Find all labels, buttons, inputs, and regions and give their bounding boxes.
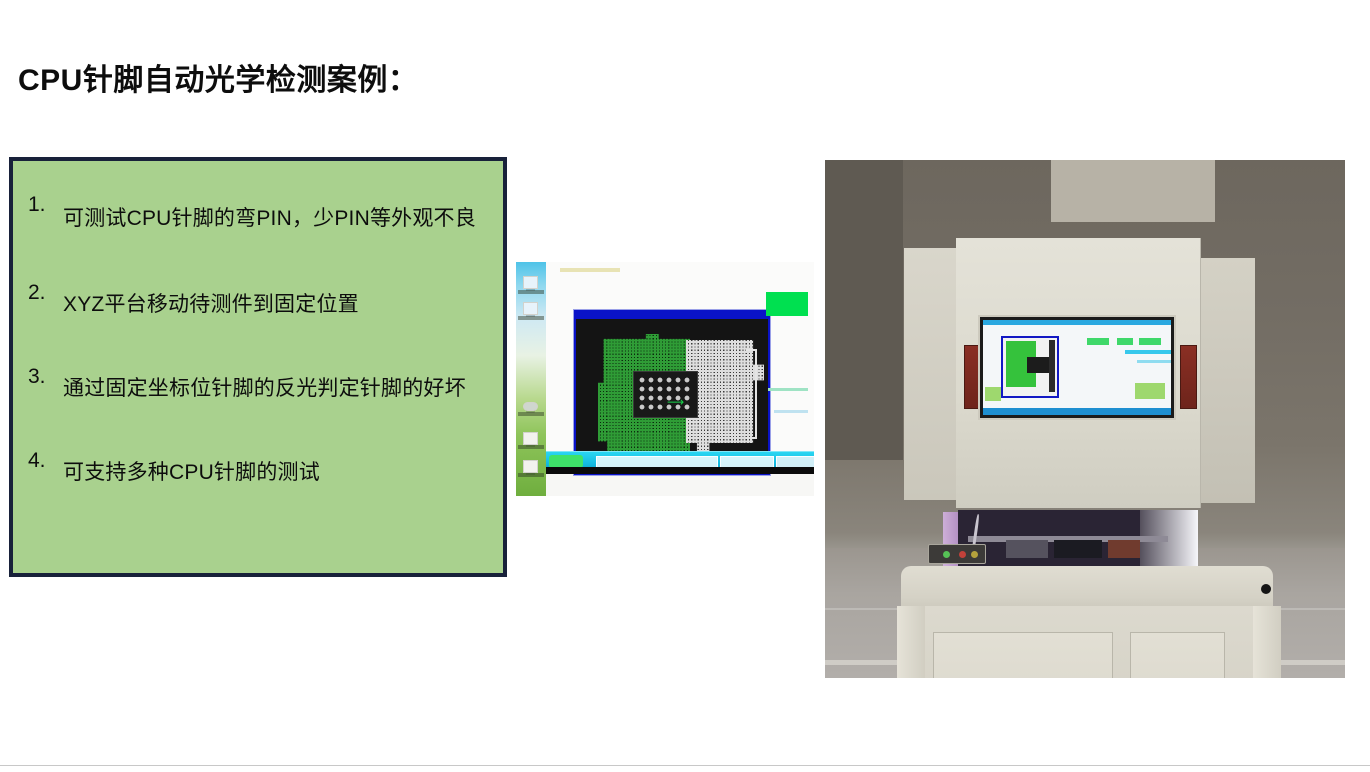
windows-desktop-wallpaper [516, 262, 546, 496]
desktop-icon [523, 302, 538, 315]
status-bar-segment [1117, 338, 1133, 345]
room-wall-panel [1051, 160, 1215, 222]
status-bar-segment [1139, 338, 1161, 345]
room-wall-left-section [825, 160, 903, 460]
list-item-number: 3. [21, 359, 63, 395]
list-item: 3. 通过固定坐标位针脚的反光判定针脚的好坏 [13, 359, 503, 419]
machine-upper-left-panel [904, 248, 958, 500]
monitor-pin-viewer [1001, 336, 1059, 398]
desktop-icon-label [518, 316, 544, 320]
list-item-label: XYZ平台移动待测件到固定位置 [63, 275, 495, 335]
stage-fixture [1006, 540, 1048, 558]
start-button-green[interactable] [943, 551, 950, 558]
machine-monitor-screen [983, 320, 1171, 415]
status-readout-line [768, 388, 808, 391]
socket-center-chip: ⟶ [633, 371, 698, 418]
monitor-result-block [985, 387, 1001, 401]
stage-fixture [1108, 540, 1140, 558]
machine-upper-right-panel [1197, 258, 1255, 503]
machine-control-panel[interactable] [928, 544, 986, 564]
desktop-icon-label [518, 412, 544, 416]
cabinet-door[interactable] [933, 632, 1113, 678]
alignment-arrow-icon: ⟶ [667, 396, 683, 408]
app-status-panel [752, 292, 810, 444]
app-titlebar [983, 320, 1171, 325]
pin-image: ⟶ [576, 319, 768, 466]
stop-button-red[interactable] [959, 551, 966, 558]
list-item-label: 通过固定坐标位针脚的反光判定针脚的好坏 [63, 359, 495, 419]
list-item: 1. 可测试CPU针脚的弯PIN，少PIN等外观不良 [13, 187, 503, 251]
monitor-result-block [1135, 383, 1165, 399]
page-title: CPU针脚自动光学检测案例： [18, 55, 418, 99]
list-item: 4. 可支持多种CPU针脚的测试 [13, 443, 503, 503]
monitor-statusbar [983, 408, 1171, 415]
monitor-info-line [1125, 350, 1171, 354]
app-toolbar [560, 268, 620, 272]
list-item-label: 可测试CPU针脚的弯PIN，少PIN等外观不良 [63, 187, 495, 251]
aoi-machine-photo [825, 160, 1345, 678]
cabinet-door[interactable] [1130, 632, 1225, 678]
inspection-app-window: ⟶ [546, 262, 814, 474]
status-readout-line [774, 410, 808, 413]
feature-list: 1. 可测试CPU针脚的弯PIN，少PIN等外观不良 2. XYZ平台移动待测件… [13, 187, 503, 527]
desktop-icon [523, 460, 538, 473]
list-item-label: 可支持多种CPU针脚的测试 [63, 443, 495, 503]
cabinet-leg [1253, 606, 1281, 678]
list-item-number: 2. [21, 275, 63, 311]
machine-monitor [978, 315, 1176, 420]
photo-edge-shadow [546, 467, 814, 474]
list-item: 2. XYZ平台移动待测件到固定位置 [13, 275, 503, 335]
list-item-number: 4. [21, 443, 63, 479]
machine-side-strip [1180, 345, 1197, 409]
desktop-icon-label [518, 290, 544, 294]
monitor-pin-image [1003, 338, 1057, 396]
mode-button-yellow[interactable] [971, 551, 978, 558]
chip-contact-grid [638, 376, 693, 413]
slide-bottom-divider [0, 765, 1370, 766]
machine-knob[interactable] [1261, 584, 1271, 594]
status-bar-segment [1087, 338, 1109, 345]
list-item-number: 1. [21, 187, 63, 223]
monitor-info-line [1137, 360, 1171, 363]
monitor-socket-chip [1027, 357, 1049, 373]
desktop-icon [523, 432, 538, 445]
desktop-icon-label [518, 445, 544, 449]
desktop-icon [523, 402, 538, 411]
pass-status-indicator [766, 292, 808, 316]
inspection-screenshot-photo: ⟶ [516, 262, 814, 496]
monitor-socket-edge [1049, 340, 1055, 392]
feature-callout-box: 1. 可测试CPU针脚的弯PIN，少PIN等外观不良 2. XYZ平台移动待测件… [9, 157, 507, 577]
cabinet-leg [897, 606, 925, 678]
inspection-chamber [958, 510, 1198, 568]
desktop-icon-label [518, 473, 544, 477]
stage-fixture [1054, 540, 1102, 558]
monitor-status-bars [1087, 338, 1165, 345]
desktop-icon [523, 276, 538, 289]
